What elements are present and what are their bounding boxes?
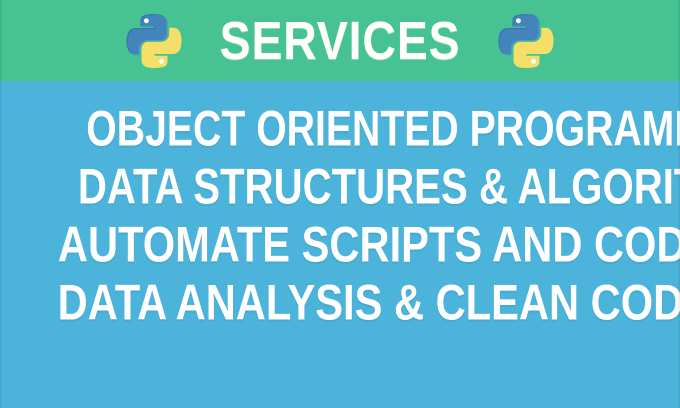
python-logo-left	[124, 11, 184, 71]
service-label: DATA STRUCTURES & ALGORITHMS	[78, 157, 680, 216]
list-item: AUTOMATE SCRIPTS AND CODE	[0, 216, 680, 274]
service-label: DATA ANALYSIS & CLEAN CODE	[58, 273, 680, 332]
header-band: SERVICES	[0, 0, 680, 81]
list-item: OBJECT ORIENTED PROGRAMMING	[0, 100, 680, 158]
service-list: OBJECT ORIENTED PROGRAMMING DATA STRUCTU…	[0, 100, 680, 332]
left-edge-divider	[0, 0, 2, 408]
list-item: DATA ANALYSIS & CLEAN CODE	[0, 274, 680, 332]
services-banner: SERVICES OBJECT ORIENTED PROGRAMMING DAT…	[0, 0, 680, 408]
list-item: DATA STRUCTURES & ALGORITHMS	[0, 158, 680, 216]
service-label: AUTOMATE SCRIPTS AND CODE	[58, 215, 680, 274]
service-label: OBJECT ORIENTED PROGRAMMING	[86, 99, 680, 158]
page-title: SERVICES	[220, 13, 461, 69]
python-logo-right	[496, 11, 556, 71]
body-band: OBJECT ORIENTED PROGRAMMING DATA STRUCTU…	[0, 81, 680, 408]
